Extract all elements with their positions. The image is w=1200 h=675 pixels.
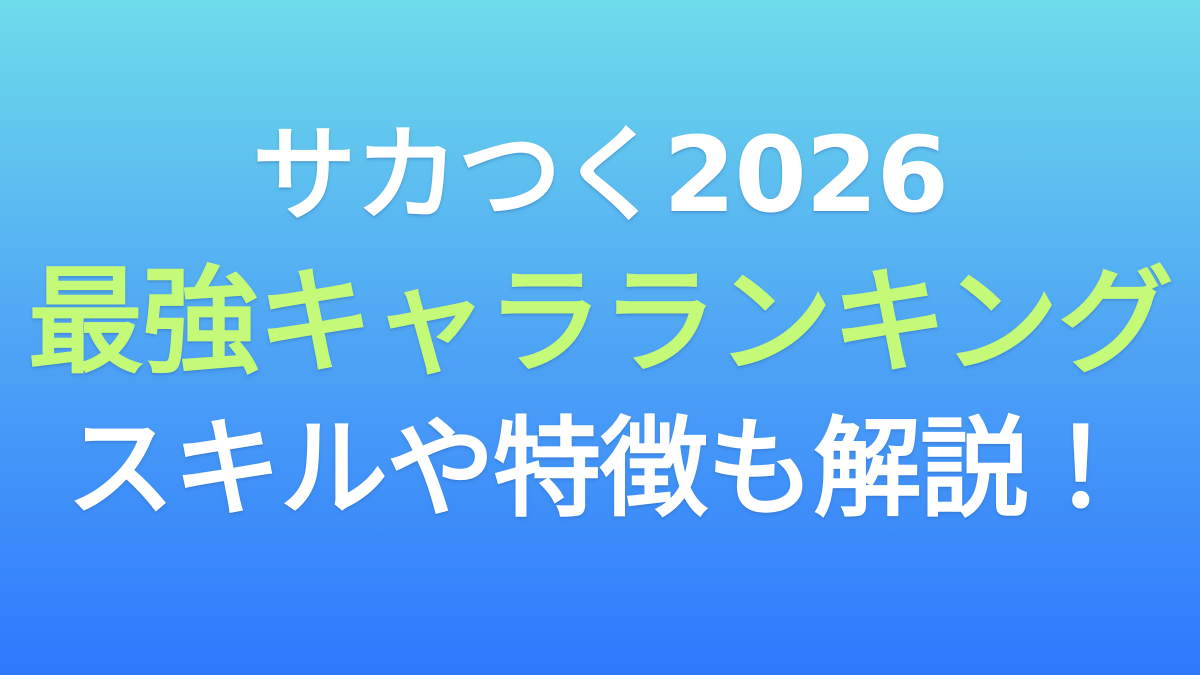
title-line-secondary: スキルや特徴も解説！ [66,400,1133,540]
title-line-accent: 最強キャラランキング [28,248,1173,399]
thumbnail-canvas: サカつく2026 最強キャラランキング スキルや特徴も解説！ [0,0,1200,675]
title-stack: サカつく2026 最強キャラランキング スキルや特徴も解説！ [0,0,1200,675]
title-line-primary: サカつく2026 [252,108,947,243]
